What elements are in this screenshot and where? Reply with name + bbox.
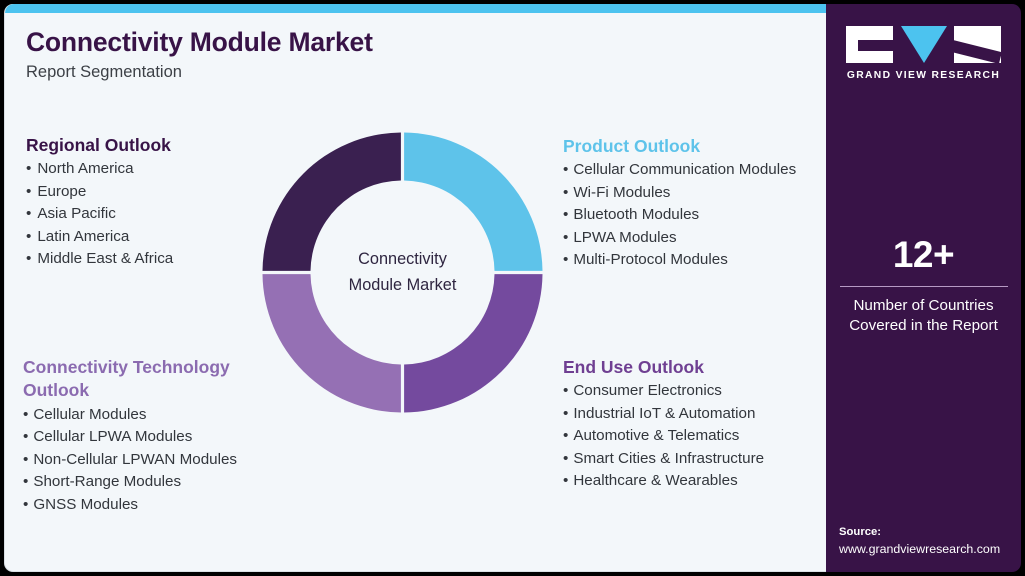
list-item: • Latin America — [26, 226, 276, 249]
segment-list-regional: • North America • Europe • Asia Pacific … — [26, 158, 276, 271]
list-item-label: Short-Range Modules — [33, 471, 293, 494]
segment-heading-technology: Connectivity Technology Outlook — [23, 356, 293, 403]
source-url[interactable]: www.grandviewresearch.com — [839, 541, 1021, 558]
list-item-label: GNSS Modules — [33, 494, 293, 517]
list-item-label: Middle East & Africa — [37, 248, 276, 271]
list-item: • Industrial IoT & Automation — [563, 403, 826, 426]
donut-chart-svg — [261, 131, 544, 414]
list-item-label: Automotive & Telematics — [573, 425, 826, 448]
list-item-label: Europe — [37, 181, 276, 204]
bullet-icon: • — [26, 181, 31, 204]
bullet-icon: • — [563, 470, 568, 493]
list-item-label: Cellular Modules — [33, 404, 293, 427]
bullet-icon: • — [563, 182, 568, 205]
source-block: Source: www.grandviewresearch.com — [839, 525, 1021, 558]
list-item-label: Cellular Communication Modules — [573, 159, 825, 182]
stat-caption-line1: Number of Countries — [836, 296, 1011, 316]
list-item: • Non-Cellular LPWAN Modules — [23, 449, 293, 472]
list-item: • GNSS Modules — [23, 494, 293, 517]
list-item: • Asia Pacific — [26, 203, 276, 226]
donut-segment-product — [404, 133, 542, 271]
logo-g-icon — [846, 26, 893, 63]
bullet-icon: • — [23, 426, 28, 449]
list-item-label: Asia Pacific — [37, 203, 276, 226]
segment-list-product: • Cellular Communication Modules • Wi-Fi… — [563, 159, 825, 272]
segment-block-regional: Regional Outlook • North America • Europ… — [26, 134, 276, 271]
list-item-label: Consumer Electronics — [573, 380, 826, 403]
stat-block-countries: 12+ Number of Countries Covered in the R… — [836, 236, 1011, 336]
bullet-icon: • — [26, 158, 31, 181]
donut-segment-technology — [263, 274, 401, 412]
list-item-label: Cellular LPWA Modules — [33, 426, 293, 449]
infographic-canvas: Connectivity Module Market Report Segmen… — [0, 0, 1025, 576]
logo-letterforms — [846, 26, 1001, 63]
stat-number: 12+ — [836, 236, 1011, 273]
segment-block-enduse: End Use Outlook • Consumer Electronics •… — [563, 356, 826, 493]
segment-list-technology: • Cellular Modules • Cellular LPWA Modul… — [23, 404, 293, 517]
list-item-label: Multi-Protocol Modules — [573, 249, 825, 272]
list-item: • Smart Cities & Infrastructure — [563, 448, 826, 471]
logo-r-icon — [954, 26, 1001, 63]
list-item: • Healthcare & Wearables — [563, 470, 826, 493]
segment-heading-regional: Regional Outlook — [26, 134, 276, 157]
bullet-icon: • — [23, 404, 28, 427]
accent-top-stripe — [5, 4, 826, 13]
list-item: • Consumer Electronics — [563, 380, 826, 403]
list-item-label: Latin America — [37, 226, 276, 249]
bullet-icon: • — [563, 204, 568, 227]
list-item-label: Industrial IoT & Automation — [573, 403, 826, 426]
segment-list-enduse: • Consumer Electronics • Industrial IoT … — [563, 380, 826, 493]
list-item: • Automotive & Telematics — [563, 425, 826, 448]
list-item: • Europe — [26, 181, 276, 204]
bullet-icon: • — [563, 227, 568, 250]
bullet-icon: • — [563, 159, 568, 182]
stat-caption: Number of Countries Covered in the Repor… — [836, 296, 1011, 336]
list-item: • Cellular Communication Modules — [563, 159, 825, 182]
bullet-icon: • — [563, 448, 568, 471]
list-item: • Middle East & Africa — [26, 248, 276, 271]
segment-block-product: Product Outlook • Cellular Communication… — [563, 135, 825, 272]
page-title: Connectivity Module Market — [26, 28, 726, 58]
list-item: • Cellular LPWA Modules — [23, 426, 293, 449]
bullet-icon: • — [563, 425, 568, 448]
source-label: Source: — [839, 525, 1021, 540]
bullet-icon: • — [23, 449, 28, 472]
list-item-label: Non-Cellular LPWAN Modules — [33, 449, 293, 472]
list-item: • Cellular Modules — [23, 404, 293, 427]
brand-logo: GRAND VIEW RESEARCH — [846, 26, 1001, 81]
stat-caption-line2: Covered in the Report — [836, 316, 1011, 336]
list-item: • North America — [26, 158, 276, 181]
list-item-label: Wi-Fi Modules — [573, 182, 825, 205]
segment-heading-enduse: End Use Outlook — [563, 356, 826, 379]
list-item: • Bluetooth Modules — [563, 204, 825, 227]
bullet-icon: • — [563, 403, 568, 426]
donut-segment-enduse — [404, 274, 542, 412]
bullet-icon: • — [23, 471, 28, 494]
bullet-icon: • — [563, 380, 568, 403]
divider — [840, 286, 1008, 287]
donut-segment-regional — [263, 133, 401, 271]
header: Connectivity Module Market Report Segmen… — [26, 28, 726, 82]
list-item: • Wi-Fi Modules — [563, 182, 825, 205]
logo-wordmark: GRAND VIEW RESEARCH — [846, 70, 1001, 81]
bullet-icon: • — [23, 494, 28, 517]
bullet-icon: • — [26, 203, 31, 226]
sidebar: GRAND VIEW RESEARCH 12+ Number of Countr… — [826, 4, 1021, 572]
bullet-icon: • — [563, 249, 568, 272]
page-subtitle: Report Segmentation — [26, 63, 726, 83]
list-item-label: Bluetooth Modules — [573, 204, 825, 227]
list-item-label: Smart Cities & Infrastructure — [573, 448, 826, 471]
bullet-icon: • — [26, 248, 31, 271]
list-item: • Short-Range Modules — [23, 471, 293, 494]
logo-v-icon — [901, 26, 947, 63]
segment-block-technology: Connectivity Technology Outlook • Cellul… — [23, 356, 293, 516]
list-item-label: Healthcare & Wearables — [573, 470, 826, 493]
bullet-icon: • — [26, 226, 31, 249]
list-item-label: North America — [37, 158, 276, 181]
list-item-label: LPWA Modules — [573, 227, 825, 250]
content-panel: Connectivity Module Market Report Segmen… — [4, 4, 826, 572]
segment-heading-product: Product Outlook — [563, 135, 825, 158]
list-item: • Multi-Protocol Modules — [563, 249, 825, 272]
donut-chart: Connectivity Module Market — [261, 131, 544, 414]
list-item: • LPWA Modules — [563, 227, 825, 250]
